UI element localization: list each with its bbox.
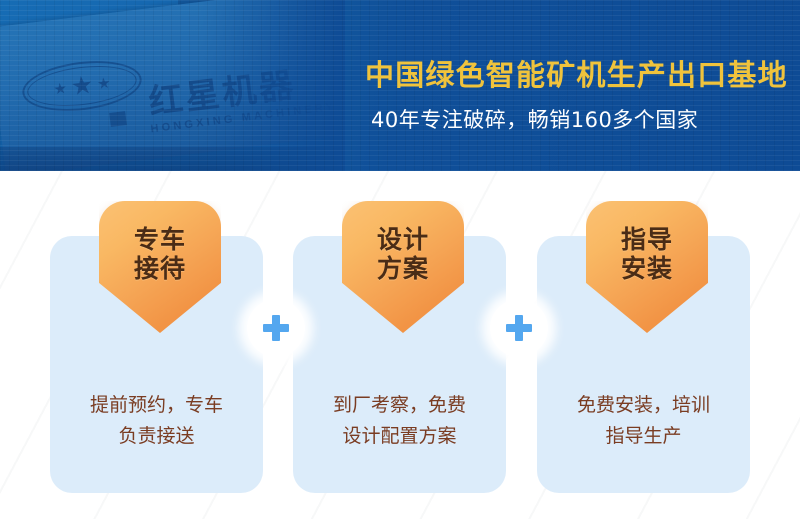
service-card-description-1: 提前预约，专车 负责接送	[50, 390, 263, 452]
service-badge-label-1-line2: 接待	[99, 255, 221, 284]
plus-separator-1	[247, 299, 305, 357]
service-badge-label-3-line1: 指导	[586, 226, 708, 255]
service-card-description-3-line1: 免费安装，培训	[537, 390, 750, 421]
service-badge-label-2-line2: 方案	[342, 255, 464, 284]
plus-separator-2	[490, 299, 548, 357]
banner-headline: 中国绿色智能矿机生产出口基地	[365, 52, 788, 94]
service-card-description-1-line2: 负责接送	[50, 421, 263, 452]
promo-banner-page: ★ ★ ★ 红星机器 HONGXING MACHINERY 中国绿色智能矿机生产…	[0, 0, 800, 519]
service-badge-label-3-line2: 安装	[586, 255, 708, 284]
service-badge-label-2: 设计 方案	[342, 226, 464, 283]
photo-blue-tint-overlay	[0, 0, 345, 171]
plus-icon	[506, 315, 532, 341]
service-card-description-1-line1: 提前预约，专车	[50, 390, 263, 421]
hero-banner: ★ ★ ★ 红星机器 HONGXING MACHINERY 中国绿色智能矿机生产…	[0, 0, 800, 171]
service-badge-label-1-line1: 专车	[99, 226, 221, 255]
service-badge-label-2-line1: 设计	[342, 226, 464, 255]
service-badge-label-3: 指导 安装	[586, 226, 708, 283]
service-cards-section: 专车 接待 提前预约，专车 负责接送 设计 方案 到厂考察，免费 设计配置方案	[0, 171, 800, 519]
service-card-description-2-line1: 到厂考察，免费	[293, 390, 506, 421]
service-card-description-3-line2: 指导生产	[537, 421, 750, 452]
service-card-description-2-line2: 设计配置方案	[293, 421, 506, 452]
plus-icon	[263, 315, 289, 341]
factory-photo: ★ ★ ★ 红星机器 HONGXING MACHINERY	[0, 0, 345, 171]
service-badge-label-1: 专车 接待	[99, 226, 221, 283]
service-card-description-2: 到厂考察，免费 设计配置方案	[293, 390, 506, 452]
banner-subheadline: 40年专注破碎，畅销160多个国家	[371, 104, 698, 134]
service-card-description-3: 免费安装，培训 指导生产	[537, 390, 750, 452]
